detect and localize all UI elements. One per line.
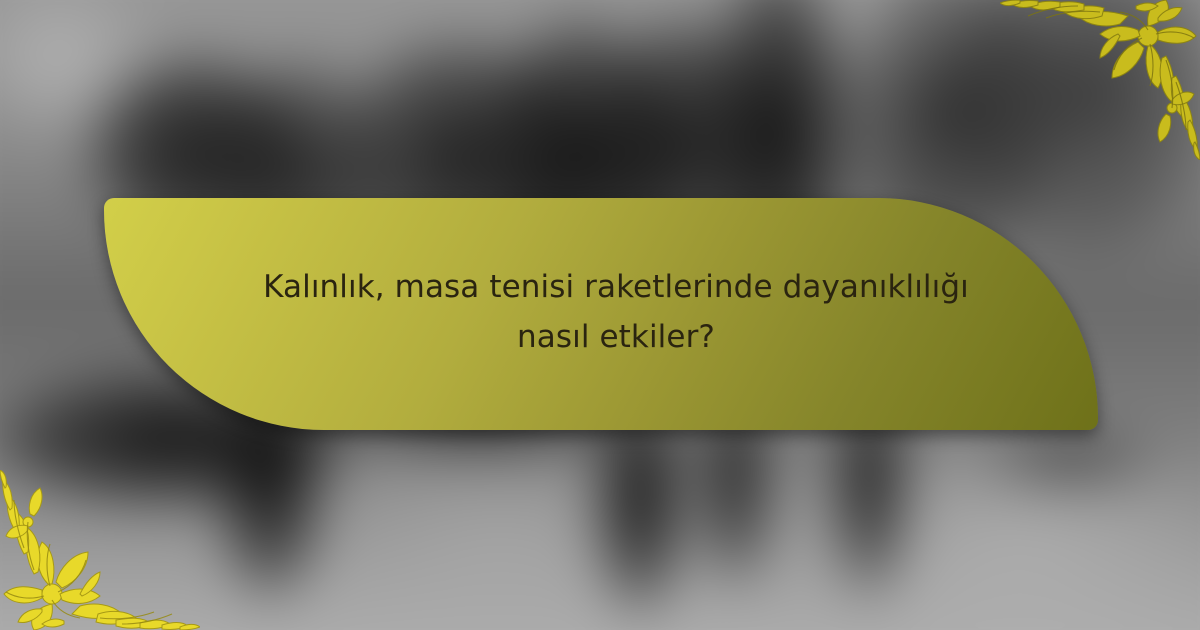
- quote-card: Kalınlık, masa tenisi raketlerinde dayan…: [104, 198, 1098, 430]
- quote-card-banner: Kalınlık, masa tenisi raketlerinde dayan…: [0, 0, 1200, 630]
- quote-text: Kalınlık, masa tenisi raketlerinde dayan…: [226, 262, 1006, 362]
